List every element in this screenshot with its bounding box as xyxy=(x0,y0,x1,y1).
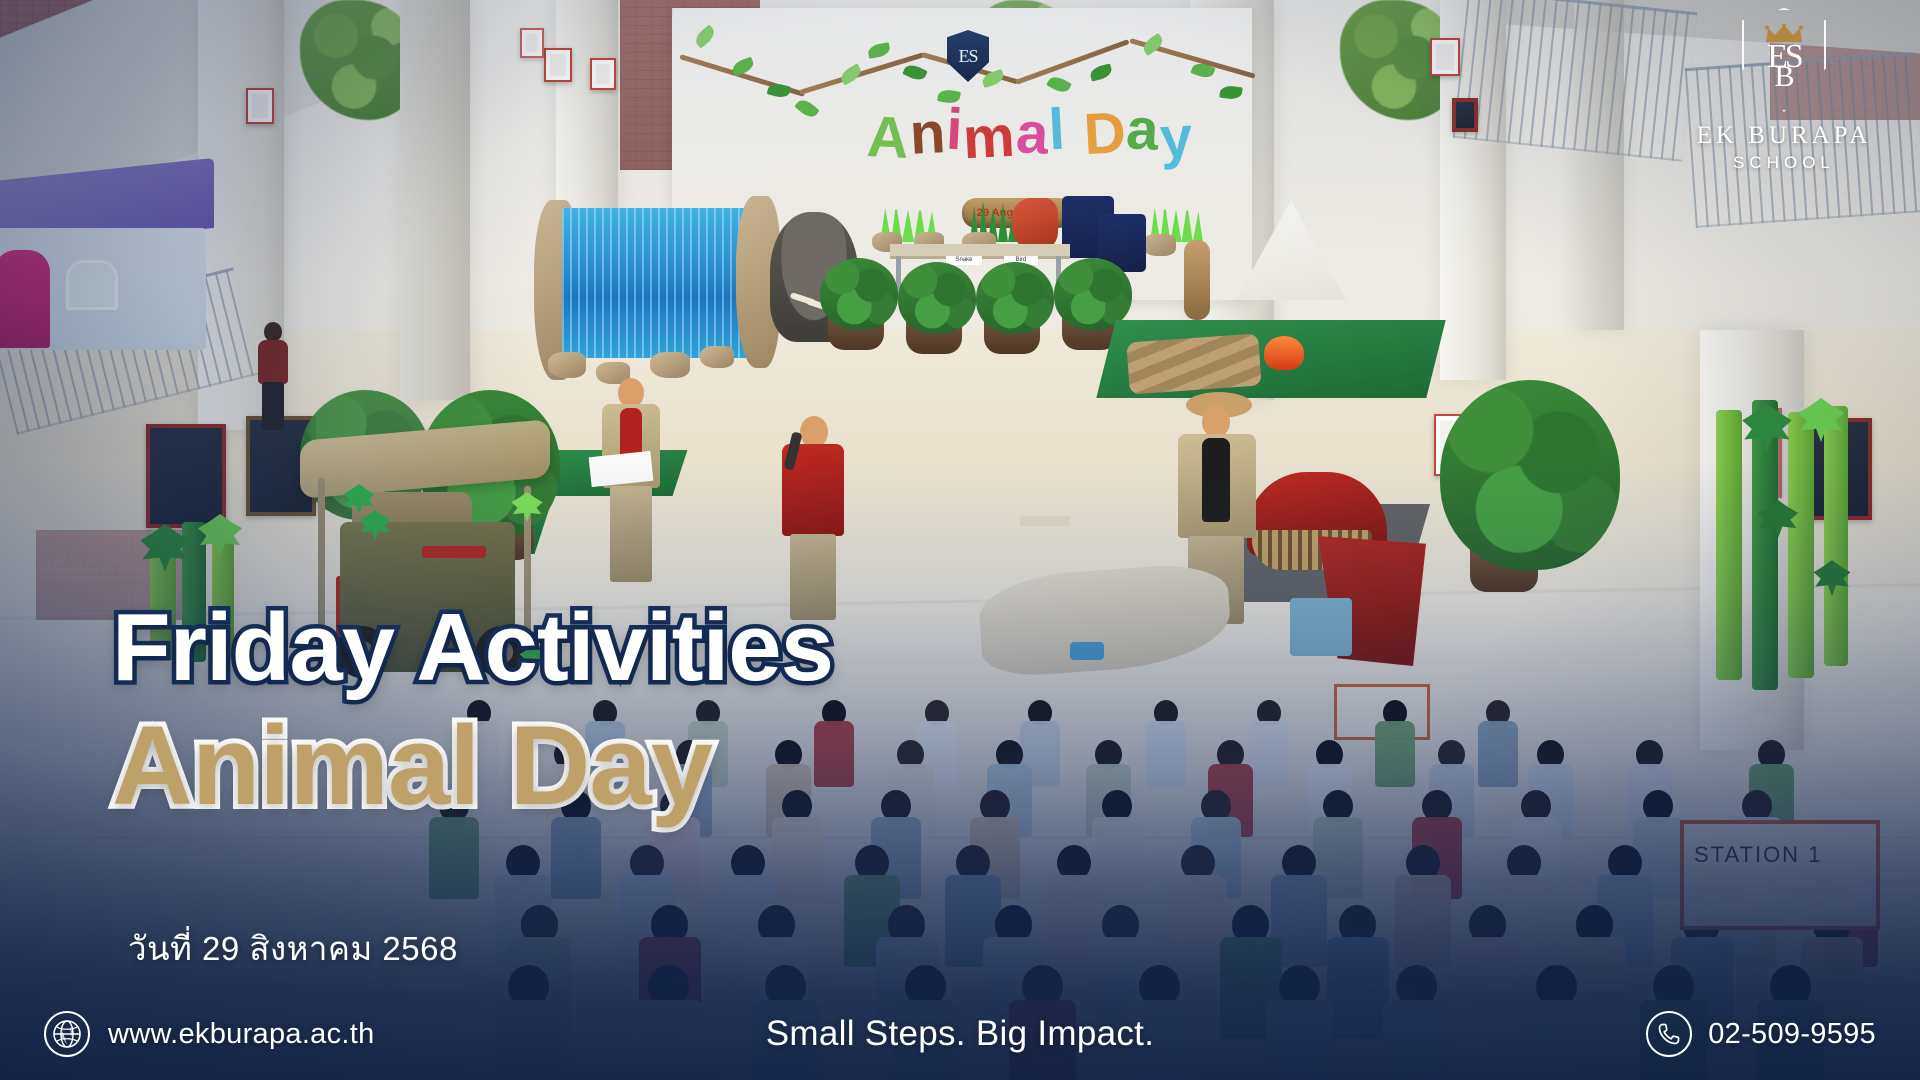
event-date: วันที่ 29 สิงหาคม 2568 xyxy=(128,922,458,975)
person-pants xyxy=(610,486,652,582)
headline-primary: Friday Activities xyxy=(112,600,833,696)
monstera-leaf xyxy=(510,492,544,522)
backdrop-title-letter: y xyxy=(1158,103,1195,172)
presenter-2 xyxy=(776,416,852,616)
station-sign: STATION 1 xyxy=(1680,820,1880,930)
monogram-bottom: B xyxy=(1742,65,1824,88)
plant-bush xyxy=(976,262,1054,334)
backdrop-shield-text: ES xyxy=(958,46,977,67)
person-pants xyxy=(262,382,284,430)
backdrop-title-letter: a xyxy=(1125,95,1162,164)
leaf xyxy=(692,24,717,48)
rock-red xyxy=(1012,198,1058,250)
student xyxy=(1146,700,1186,792)
student-body xyxy=(1249,721,1289,787)
station-sign-text: STATION 1 xyxy=(1684,824,1876,868)
phone-icon xyxy=(1646,1011,1692,1057)
logo-subtitle: SCHOOL xyxy=(1684,153,1884,173)
student xyxy=(1375,700,1415,792)
framed-artwork xyxy=(246,88,274,124)
leaf xyxy=(1140,33,1165,56)
blue-prop xyxy=(1070,642,1104,660)
backdrop-title-letter: n xyxy=(908,99,948,168)
plant-bush xyxy=(820,258,898,330)
student xyxy=(1478,700,1518,792)
cart-handle xyxy=(422,546,486,558)
bamboo-decor xyxy=(1824,406,1848,666)
campfire-flame xyxy=(1264,336,1304,370)
headline-secondary: Animal Day xyxy=(112,710,833,822)
vine xyxy=(1015,39,1129,85)
leaf xyxy=(867,42,891,59)
student xyxy=(1395,845,1451,973)
person-shirt xyxy=(1202,438,1230,522)
photo-scene: ES Animal Day 29 August 2025 xyxy=(0,0,1920,1080)
framed-artwork xyxy=(590,58,616,90)
student-body xyxy=(429,817,479,900)
tall-plant xyxy=(1440,380,1620,570)
framed-artwork xyxy=(146,424,226,528)
leaf xyxy=(730,57,755,77)
footer-tagline: Small Steps. Big Impact. xyxy=(766,1014,1154,1053)
plant-bush xyxy=(898,262,976,334)
display-table xyxy=(890,244,1070,256)
campfire-logs xyxy=(1126,333,1261,394)
backdrop-title-letter: m xyxy=(962,103,1018,173)
student xyxy=(1249,700,1289,792)
framed-artwork xyxy=(1430,38,1460,76)
railing xyxy=(1453,0,1697,162)
rock xyxy=(650,352,690,378)
rock xyxy=(1142,234,1176,256)
student-body xyxy=(772,817,822,900)
student-body xyxy=(1478,721,1518,787)
framed-artwork xyxy=(1452,98,1478,132)
waterfall-decor xyxy=(562,208,748,358)
student-body xyxy=(1170,875,1226,967)
footer-phone-text[interactable]: 02-509-9595 xyxy=(1708,1018,1876,1051)
student-body xyxy=(1395,875,1451,967)
logo-monogram: ES B xyxy=(1744,44,1824,88)
person-head xyxy=(264,322,282,342)
leaf xyxy=(767,81,792,99)
framed-artwork xyxy=(544,48,572,82)
bystander xyxy=(254,322,294,432)
shield-icon: ES B xyxy=(1742,8,1826,112)
footer-tagline-wrap: Small Steps. Big Impact. xyxy=(0,1014,1920,1054)
person-shirt xyxy=(258,340,288,384)
meerkat-cutout xyxy=(1184,240,1210,320)
backdrop-title-letter: D xyxy=(1082,99,1128,168)
rock xyxy=(700,346,734,368)
blue-bin xyxy=(1290,598,1352,656)
backdrop-title-letter: A xyxy=(865,103,911,172)
playhouse-window xyxy=(66,260,118,310)
school-logo: ES B EK BURAPA SCHOOL xyxy=(1684,8,1884,173)
backdrop-title: Animal Day xyxy=(867,104,1187,171)
footer-phone[interactable]: 02-509-9595 xyxy=(1646,1011,1876,1057)
leaf xyxy=(1046,74,1072,96)
leaf xyxy=(1219,85,1243,101)
floor-strip xyxy=(1020,516,1070,526)
leaf xyxy=(1089,63,1114,81)
leaf xyxy=(902,62,927,83)
bamboo-decor xyxy=(1788,412,1814,678)
student-body xyxy=(1146,721,1186,787)
cart-roof xyxy=(300,419,550,499)
rock xyxy=(548,352,586,378)
column xyxy=(400,0,470,400)
headline-block: Friday Activities Animal Day xyxy=(112,600,833,822)
leaf xyxy=(794,96,819,120)
backdrop-title-letter: a xyxy=(1015,99,1052,168)
logo-name: EK BURAPA xyxy=(1684,122,1884,150)
student xyxy=(1170,845,1226,973)
playhouse-door xyxy=(0,250,50,348)
playhouse xyxy=(0,170,214,350)
framed-artwork xyxy=(520,28,544,58)
student-body xyxy=(1375,721,1415,787)
student-body xyxy=(551,817,601,900)
footer-bar: www.ekburapa.ac.th Small Steps. Big Impa… xyxy=(0,988,1920,1080)
presenter-1 xyxy=(596,378,666,588)
poster-root: ES Animal Day 29 August 2025 xyxy=(0,0,1920,1080)
bamboo-decor xyxy=(1716,410,1742,680)
